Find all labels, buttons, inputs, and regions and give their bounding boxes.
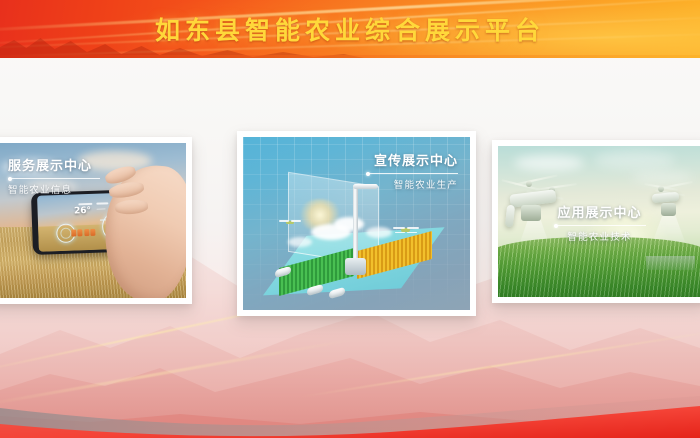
card-application-title-block: 应用展示中心 智能农业技术 — [498, 202, 700, 243]
cloud-shape — [514, 155, 584, 171]
drone-rotor — [407, 232, 417, 233]
cloud-shape — [334, 217, 364, 231]
platform-showcase-page: 如东县智能农业综合展示平台 26° — [0, 0, 700, 438]
card-service-image: 26° — [0, 143, 186, 298]
hud-chip — [84, 229, 89, 236]
card-service-display-center[interactable]: 26° — [0, 137, 192, 304]
distant-city-skyline — [646, 256, 695, 270]
drone-small-left — [279, 217, 301, 228]
rule-dot — [366, 172, 370, 176]
hud-chip — [90, 229, 95, 236]
cloud-shape — [595, 151, 675, 169]
rule-dot — [554, 224, 558, 228]
cloud-shape — [366, 227, 392, 238]
hud-bar — [96, 202, 108, 204]
drone-rotor — [393, 227, 405, 228]
smart-lamp-pole — [353, 185, 358, 261]
hud-temperature: 26° — [74, 206, 91, 217]
drone-rotor — [291, 220, 301, 221]
card-title: 服务展示中心 — [8, 155, 100, 174]
card-subtitle: 智能农业生产 — [366, 177, 458, 191]
card-subtitle: 智能农业技术 — [498, 229, 700, 243]
equipment-base — [345, 258, 365, 275]
drone-blade — [661, 181, 693, 189]
drone-rotor — [395, 232, 405, 233]
card-application-image: 应用展示中心 智能农业技术 — [498, 146, 700, 297]
card-publicity-display-center[interactable]: 宣传展示中心 智能农业生产 — [237, 131, 476, 316]
title-rule — [8, 178, 100, 179]
header-banner: 如东县智能农业综合展示平台 — [0, 0, 700, 58]
banner-bottom-edge — [0, 55, 700, 58]
drone-small-right — [393, 224, 419, 237]
title-rule — [366, 173, 458, 174]
hud-bar — [78, 203, 92, 205]
page-title: 如东县智能农业综合展示平台 — [0, 0, 700, 58]
card-title: 宣传展示中心 — [366, 150, 458, 169]
hud-bar — [97, 208, 106, 210]
title-rule — [554, 225, 646, 226]
card-application-display-center[interactable]: 应用展示中心 智能农业技术 — [492, 140, 700, 303]
card-publicity-image: 宣传展示中心 智能农业生产 — [243, 137, 470, 310]
card-publicity-title-block: 宣传展示中心 智能农业生产 — [366, 150, 458, 191]
drone-rotor — [407, 227, 419, 228]
rule-dot — [8, 177, 12, 181]
card-service-title-block: 服务展示中心 智能农业信息 — [8, 155, 100, 196]
drone-rotor — [279, 220, 289, 221]
card-title: 应用展示中心 — [498, 202, 700, 221]
card-subtitle: 智能农业信息 — [8, 182, 100, 196]
